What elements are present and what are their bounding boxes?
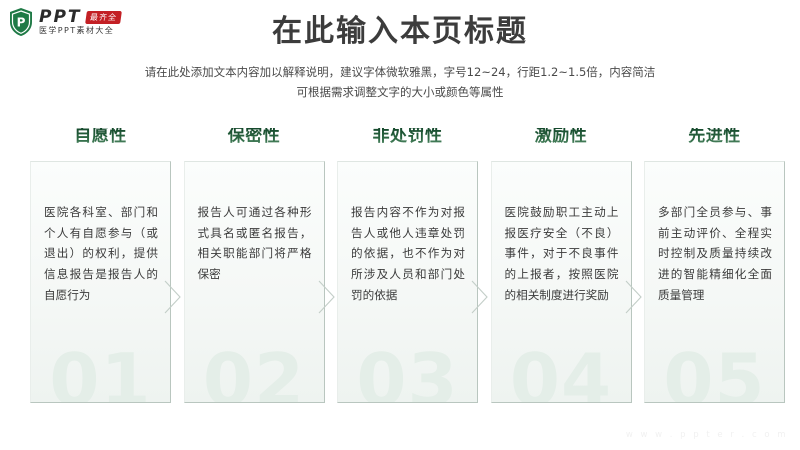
card-box: 05 多部门全员参与、事前主动评价、全程实时控制及质量持续改进的智能精细化全面质… — [644, 161, 785, 403]
card-number: 05 — [645, 344, 784, 403]
chevron-right-icon — [471, 280, 489, 314]
chevron-right-icon — [164, 280, 182, 314]
page-title: 在此输入本页标题 — [0, 14, 800, 50]
chevron-right-icon — [318, 280, 336, 314]
card-box: 01 医院各科室、部门和个人有自愿参与（或退出）的权利，提供信息报告是报告人的自… — [30, 161, 171, 403]
card-body-text: 报告人可通过各种形式具名或匿名报告，相关职能部门将严格保密 — [198, 202, 312, 285]
card-body-text: 医院鼓励职工主动上报医疗安全（不良）事件，对于不良事件的上报者，按照医院的相关制… — [505, 202, 619, 305]
card-box: 03 报告内容不作为对报告人或他人违章处罚的依据，也不作为对所涉及人员和部门处罚… — [337, 161, 478, 403]
card-heading: 自愿性 — [30, 128, 171, 152]
card-number: 03 — [338, 344, 477, 403]
subtitle-line-1: 请在此处添加文本内容加以解释说明，建议字体微软雅黑，字号12~24，行距1.2~… — [0, 62, 800, 82]
card-body-text: 医院各科室、部门和个人有自愿参与（或退出）的权利，提供信息报告是报告人的自愿行为 — [44, 202, 158, 305]
chevron-right-icon — [625, 280, 643, 314]
card-body-text: 多部门全员参与、事前主动评价、全程实时控制及质量持续改进的智能精细化全面质量管理 — [658, 202, 772, 305]
card-item[interactable]: 自愿性 01 医院各科室、部门和个人有自愿参与（或退出）的权利，提供信息报告是报… — [30, 128, 171, 403]
card-number: 02 — [185, 344, 324, 403]
page-subtitle: 请在此处添加文本内容加以解释说明，建议字体微软雅黑，字号12~24，行距1.2~… — [0, 62, 800, 102]
card-heading: 非处罚性 — [337, 128, 478, 152]
card-box: 04 医院鼓励职工主动上报医疗安全（不良）事件，对于不良事件的上报者，按照医院的… — [491, 161, 632, 403]
subtitle-line-2: 可根据需求调整文字的大小或颜色等属性 — [0, 82, 800, 102]
card-item[interactable]: 激励性 04 医院鼓励职工主动上报医疗安全（不良）事件，对于不良事件的上报者，按… — [491, 128, 632, 403]
card-item[interactable]: 非处罚性 03 报告内容不作为对报告人或他人违章处罚的依据，也不作为对所涉及人员… — [337, 128, 478, 403]
card-row: 自愿性 01 医院各科室、部门和个人有自愿参与（或退出）的权利，提供信息报告是报… — [30, 128, 785, 403]
card-heading: 保密性 — [184, 128, 325, 152]
card-item[interactable]: 保密性 02 报告人可通过各种形式具名或匿名报告，相关职能部门将严格保密 — [184, 128, 325, 403]
card-heading: 先进性 — [644, 128, 785, 152]
card-box: 02 报告人可通过各种形式具名或匿名报告，相关职能部门将严格保密 — [184, 161, 325, 403]
site-watermark: w w w . p p t e r . c o m — [626, 430, 788, 440]
card-item[interactable]: 先进性 05 多部门全员参与、事前主动评价、全程实时控制及质量持续改进的智能精细… — [644, 128, 785, 403]
card-number: 04 — [492, 344, 631, 403]
card-body-text: 报告内容不作为对报告人或他人违章处罚的依据，也不作为对所涉及人员和部门处罚的依据 — [351, 202, 465, 305]
card-heading: 激励性 — [491, 128, 632, 152]
card-number: 01 — [31, 344, 170, 403]
